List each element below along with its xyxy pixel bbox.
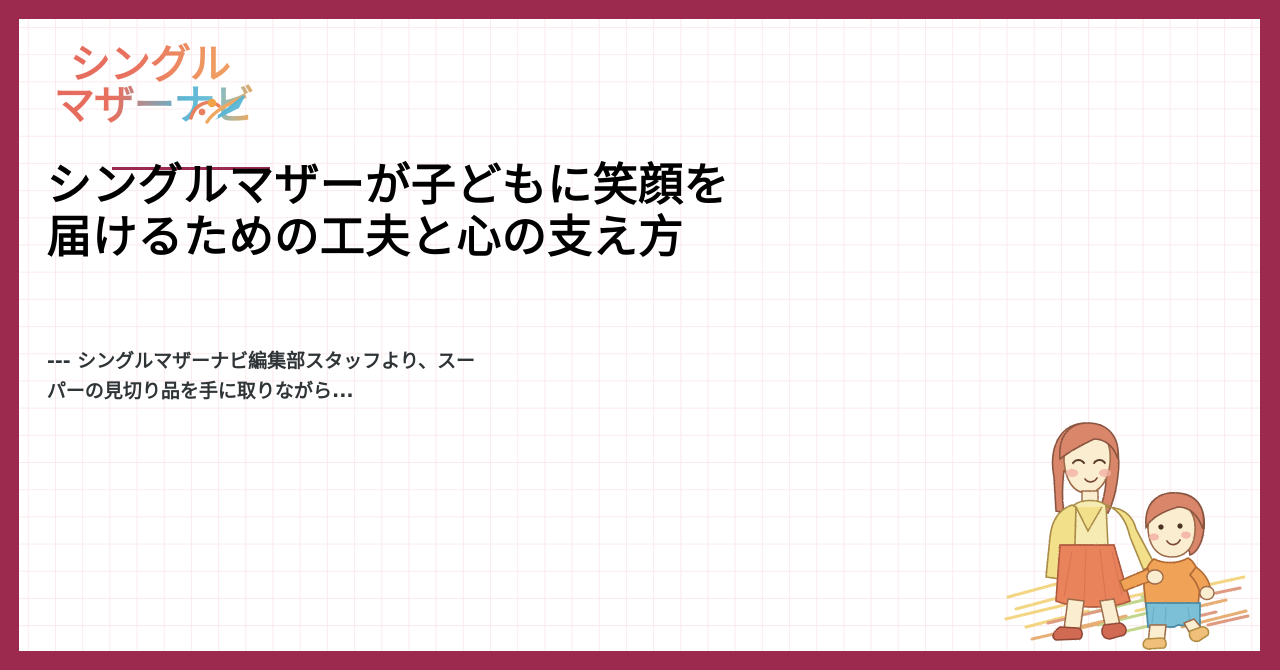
mother-and-child-walking-illustration — [1002, 401, 1252, 651]
grid-paper-sheet: シングル マザーナビ シングルマザーが子どもに笑顔を 届けるための工夫と心の支え… — [19, 19, 1260, 651]
article-thumbnail-card: シングル マザーナビ シングルマザーが子どもに笑顔を 届けるための工夫と心の支え… — [0, 0, 1280, 670]
site-logo[interactable]: シングル マザーナビ — [48, 41, 308, 128]
logo-line-2: マザーナビ — [48, 82, 308, 128]
page-title: シングルマザーが子どもに笑顔を 届けるための工夫と心の支え方 — [47, 159, 877, 263]
article-byline: --- シングルマザーナビ編集部スタッフより、スー パーの見切り品を手に取りなが… — [47, 346, 687, 406]
child-figure — [1120, 493, 1214, 649]
